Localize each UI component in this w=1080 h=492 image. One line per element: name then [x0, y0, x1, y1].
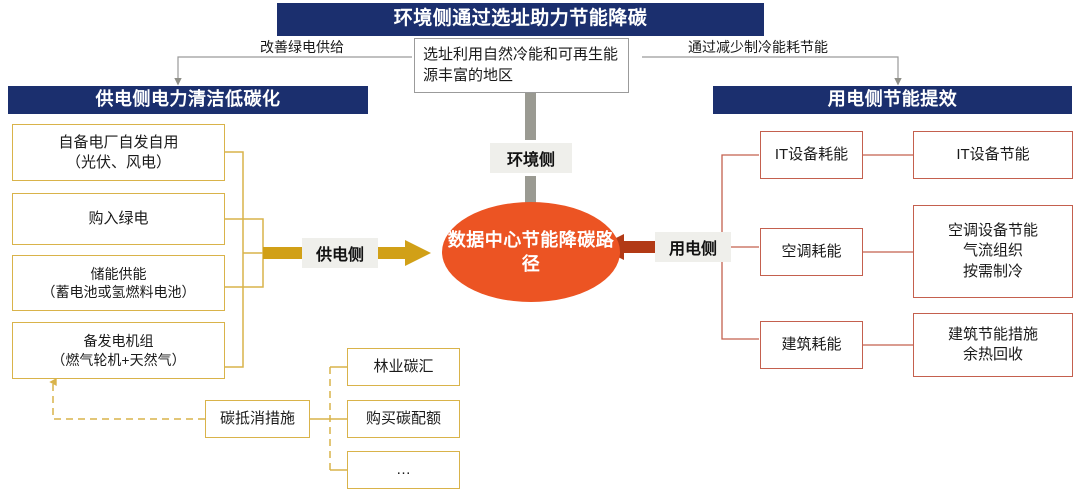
measure-0: IT设备节能: [913, 131, 1073, 179]
carbon-offset-option-1: 购买碳配额: [347, 400, 460, 438]
carbon-offset-title: 碳抵消措施: [205, 400, 310, 438]
left-panel-banner: 供电侧电力清洁低碳化: [8, 86, 368, 114]
supply-item-1: 购入绿电: [12, 193, 225, 245]
site-selection-note: 选址利用自然冷能和可再生能源丰富的地区: [414, 38, 629, 93]
supply-item-2: 储能供能 （蓄电池或氢燃料电池）: [12, 255, 225, 311]
carbon-offset-option-2: …: [347, 451, 460, 489]
title-banner: 环境侧通过选址助力节能降碳: [277, 3, 764, 36]
pill-environment: 环境侧: [490, 143, 572, 173]
caption-left: 改善绿电供给: [260, 37, 344, 57]
diagram-canvas: 环境侧通过选址助力节能降碳 改善绿电供给 通过减少制冷能耗节能 选址利用自然冷能…: [0, 0, 1080, 492]
caption-right: 通过减少制冷能耗节能: [688, 37, 828, 57]
load-2: 建筑耗能: [760, 321, 863, 369]
pill-supply: 供电侧: [302, 238, 378, 268]
hub-ellipse: 数据中心节能降碳路径: [442, 202, 620, 302]
pill-demand: 用电侧: [655, 232, 731, 262]
measure-2: 建筑节能措施 余热回收: [913, 313, 1073, 377]
measure-1: 空调设备节能 气流组织 按需制冷: [913, 205, 1073, 298]
carbon-offset-option-0: 林业碳汇: [347, 348, 460, 386]
right-panel-banner: 用电侧节能提效: [713, 86, 1072, 114]
supply-item-0: 自备电厂自发自用 （光伏、风电）: [12, 124, 225, 181]
supply-item-3: 备发电机组 （燃气轮机+天然气）: [12, 322, 225, 379]
load-1: 空调耗能: [760, 228, 863, 276]
load-0: IT设备耗能: [760, 131, 863, 179]
